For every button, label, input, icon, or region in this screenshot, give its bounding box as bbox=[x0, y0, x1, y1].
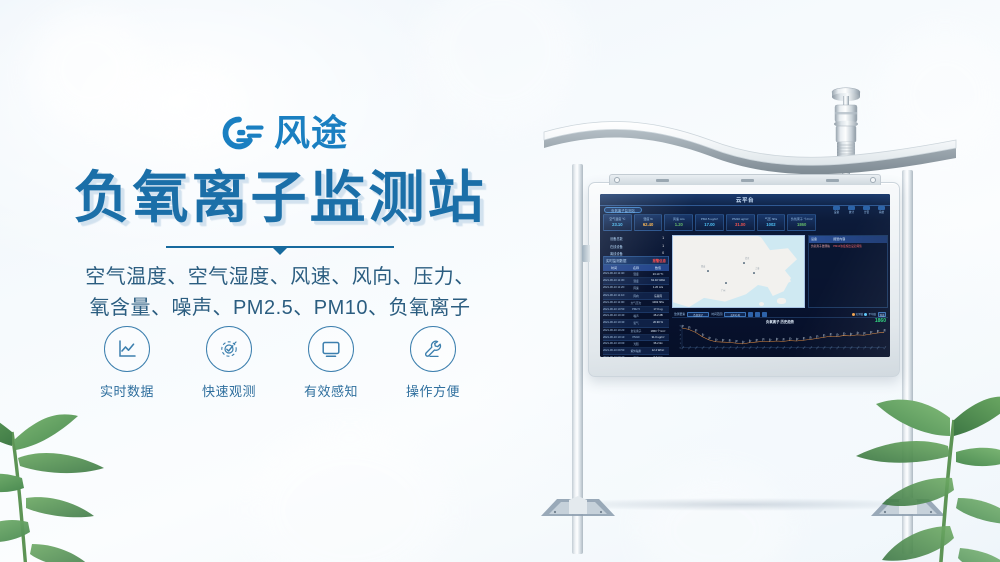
station-map[interactable]: 北京 上海 广州 西安 bbox=[672, 235, 805, 308]
cell-value: 17.0 ug bbox=[647, 308, 669, 311]
x-axis-tick: 10:00 bbox=[749, 346, 753, 350]
chart-data-point bbox=[763, 338, 765, 341]
kpi-card: PM10 ug/m³ 31.00 bbox=[726, 214, 755, 231]
feature-item-effective-sensing: 有效感知 bbox=[294, 326, 368, 400]
cell-value: 46.2 dB bbox=[647, 314, 669, 318]
table-row[interactable]: 2021-06-10 10:30:00氧气20.90 % bbox=[603, 320, 669, 327]
x-axis-tick: 01:00 bbox=[688, 346, 692, 350]
chart-legend: 实测值 平均值 bbox=[852, 312, 876, 316]
cell-time: 2021-06-10 10:00:00 bbox=[603, 342, 625, 346]
chart-series-line bbox=[682, 328, 884, 344]
legend-swatch bbox=[852, 313, 855, 316]
radar-target-icon bbox=[217, 337, 241, 361]
x-axis-tick: 00:00 bbox=[681, 346, 685, 350]
kpi-value: 1.20 bbox=[675, 222, 683, 227]
chart-data-point bbox=[736, 340, 738, 343]
alert-message: PM10浓度超出设定阈值 bbox=[833, 244, 862, 248]
cell-name: 温度 bbox=[625, 272, 647, 276]
cell-time: 2021-06-10 11:20:00 bbox=[603, 286, 625, 290]
cloud-platform-dashboard[interactable]: 云平台 负氧离子监测站 设备 统计 bbox=[600, 194, 890, 357]
cell-name: 湿度 bbox=[625, 279, 647, 283]
x-axis-tick: 25:00 bbox=[850, 346, 854, 350]
y-axis-tick: 5 bbox=[680, 330, 681, 332]
table-row[interactable]: 2021-06-10 10:20:00负氧离子1860 个/cm³ bbox=[603, 328, 669, 335]
x-axis-tick: 27:00 bbox=[863, 346, 867, 350]
cell-time: 2021-06-10 10:10:00 bbox=[603, 336, 625, 339]
feature-item-easy-operation: 操作方便 bbox=[396, 326, 470, 400]
realtime-data-table[interactable]: 实时监测数据 报警信息 时间 名称 数值 2021-06-10 11:40:00… bbox=[603, 256, 669, 355]
alert-header: 设备 报警内容 bbox=[809, 236, 887, 243]
chart-data-point bbox=[884, 329, 886, 332]
feature-label: 实时数据 bbox=[100, 381, 154, 400]
feature-item-fast-observation: 快速观测 bbox=[192, 326, 266, 400]
feature-icon-wrap bbox=[308, 326, 354, 372]
kpi-value: 1860 bbox=[797, 222, 806, 227]
feature-item-realtime-data: 实时数据 bbox=[90, 326, 164, 400]
table-row[interactable]: 2021-06-10 10:40:00噪声46.2 dB bbox=[603, 313, 669, 320]
side-connector bbox=[582, 245, 590, 262]
device-summary: 设备总数 1 在线设备 1 离线设备 0 bbox=[608, 235, 666, 258]
x-axis-tick: 04:00 bbox=[708, 346, 712, 350]
display-housing: 云平台 负氧离子监测站 设备 统计 bbox=[588, 182, 900, 377]
summary-row: 设备总数 1 bbox=[608, 235, 666, 243]
x-axis-tick: 22:00 bbox=[829, 346, 833, 350]
display-screen[interactable]: 云平台 负氧离子监测站 设备 统计 bbox=[600, 194, 890, 357]
y-axis-tick: 6 bbox=[680, 326, 681, 328]
parameter-list: 空气温度、空气湿度、风速、风向、压力、 氧含量、噪声、PM2.5、PM10、负氧… bbox=[0, 262, 560, 324]
chart-data-point bbox=[689, 326, 691, 329]
map-station-point[interactable] bbox=[725, 282, 727, 284]
chart-data-point bbox=[729, 339, 731, 342]
monitor-icon bbox=[319, 337, 343, 361]
kpi-value: 62.40 bbox=[643, 222, 653, 227]
kpi-card: 风速 m/s 1.20 bbox=[664, 214, 693, 231]
x-axis-tick: 02:00 bbox=[695, 346, 699, 350]
x-axis-tick: 24:00 bbox=[843, 346, 847, 350]
chart-data-point bbox=[783, 338, 785, 341]
base-plate-left bbox=[541, 494, 615, 518]
cell-name: 噪声 bbox=[625, 314, 647, 318]
chart-data-point bbox=[830, 333, 832, 336]
cell-value: 20.90 % bbox=[647, 321, 669, 325]
x-axis-tick: 07:00 bbox=[728, 346, 732, 350]
chart-data-point bbox=[749, 340, 751, 343]
chart-field-select[interactable]: 负氧离子 bbox=[687, 312, 709, 317]
chart-toolbar[interactable]: 监测要素 负氧离子 时间范围 近24小时 实测值 平均值 导出 bbox=[672, 311, 888, 318]
cell-value: 1002 hPa bbox=[647, 301, 669, 305]
cell-time: 2021-06-10 10:20:00 bbox=[603, 329, 625, 333]
x-axis-tick: 06:00 bbox=[722, 346, 726, 350]
chart-zoom-button[interactable] bbox=[755, 312, 760, 317]
toolbar-item[interactable]: 设备 bbox=[831, 206, 842, 215]
table-body: 2021-06-10 11:40:00温度23.10 ℃2021-06-10 1… bbox=[603, 271, 669, 357]
legend-label: 实测值 bbox=[856, 313, 864, 316]
toolbar-item[interactable]: 统计 bbox=[846, 206, 857, 215]
kpi-value: 31.00 bbox=[735, 222, 745, 227]
legend-label: 平均值 bbox=[868, 313, 876, 316]
summary-label: 设备总数 bbox=[610, 236, 623, 241]
table-row[interactable]: 2021-06-10 11:00:00大气压力1002 hPa bbox=[603, 300, 669, 307]
table-row[interactable]: 2021-06-10 10:00:00光照36.2 klx bbox=[603, 341, 669, 348]
mount-slot bbox=[826, 179, 839, 182]
chart-settings-button[interactable] bbox=[762, 312, 767, 317]
dashboard-toolbar[interactable]: 设备 统计 告警 系统 bbox=[831, 206, 887, 215]
promo-banner: 风途 负氧离子监测站 空气温度、空气湿度、风速、风向、压力、 氧含量、噪声、PM… bbox=[0, 0, 1000, 562]
x-axis-tick: 08:00 bbox=[735, 346, 739, 350]
x-axis-tick: 15:00 bbox=[782, 346, 786, 350]
cell-name: 雨量 bbox=[625, 356, 647, 357]
x-axis-tick: 17:00 bbox=[796, 346, 800, 350]
table-header: 实时监测数据 报警信息 bbox=[603, 256, 669, 265]
cell-value: 36.2 klx bbox=[647, 342, 669, 346]
mount-eyelet bbox=[870, 177, 876, 183]
chart-data-point bbox=[857, 332, 859, 335]
feature-label: 操作方便 bbox=[406, 381, 460, 400]
kpi-card: 空气温度 ℃ 23.10 bbox=[603, 214, 632, 231]
feature-list: 实时数据 快速观测 bbox=[0, 326, 560, 400]
summary-value: 1 bbox=[662, 236, 664, 241]
map-island bbox=[759, 302, 764, 306]
feature-icon-wrap bbox=[104, 326, 150, 372]
cell-name: 氧气 bbox=[625, 321, 647, 325]
alert-device: 负氧离子监测站 bbox=[811, 244, 833, 248]
chart-data-point bbox=[716, 339, 718, 342]
cell-value: 1860 个/cm³ bbox=[647, 329, 669, 333]
chart-data-point bbox=[803, 337, 805, 340]
map-station-point[interactable] bbox=[753, 272, 755, 274]
marketing-copy-panel: 风途 负氧离子监测站 空气温度、空气湿度、风速、风向、压力、 氧含量、噪声、PM… bbox=[0, 0, 560, 562]
table-row[interactable]: 2021-06-10 11:20:00风速1.20 m/s bbox=[603, 285, 669, 292]
cell-time: 2021-06-10 11:00:00 bbox=[603, 301, 625, 305]
x-axis-tick: 20:00 bbox=[816, 346, 820, 350]
chart-data-point bbox=[702, 334, 704, 337]
x-axis-tick: 13:00 bbox=[769, 346, 773, 350]
toolbar-label: 告警 bbox=[861, 210, 872, 214]
kpi-value: 17.00 bbox=[704, 222, 714, 227]
map-label: 西安 bbox=[701, 264, 705, 268]
kpi-card: PM2.5 ug/m³ 17.00 bbox=[695, 214, 724, 231]
feature-label: 快速观测 bbox=[202, 381, 256, 400]
alert-panel[interactable]: 设备 报警内容 负氧离子监测站 PM10浓度超出设定阈值 bbox=[808, 235, 888, 308]
x-axis-tick: 16:00 bbox=[789, 346, 793, 350]
cell-name: PM10 bbox=[625, 336, 647, 339]
mount-slot bbox=[656, 179, 669, 182]
alarm-badge[interactable]: 报警信息 bbox=[652, 258, 666, 263]
table-row[interactable]: 2021-06-10 11:10:00风向东南风 bbox=[603, 293, 669, 300]
brand-name: 风途 bbox=[274, 115, 348, 151]
cell-time: 2021-06-10 11:30:00 bbox=[603, 279, 625, 283]
x-axis-tick: 09:00 bbox=[742, 346, 746, 350]
cell-time: 2021-06-10 10:30:00 bbox=[603, 321, 625, 325]
cell-name: 光照 bbox=[625, 342, 647, 346]
summary-value: 1 bbox=[662, 244, 664, 249]
feature-icon-wrap bbox=[206, 326, 252, 372]
cell-value: 23.10 ℃ bbox=[647, 272, 669, 276]
monitoring-station-product: 云平台 负氧离子监测站 设备 统计 bbox=[530, 60, 960, 530]
cell-name: 风向 bbox=[625, 294, 647, 298]
chart-data-point bbox=[695, 329, 697, 332]
feature-icon-wrap bbox=[410, 326, 456, 372]
y-axis-tick: 1 bbox=[680, 343, 681, 345]
x-axis-tick: 18:00 bbox=[802, 346, 806, 350]
cell-name: PM2.5 bbox=[625, 308, 647, 311]
x-axis-tick: 19:00 bbox=[809, 346, 813, 350]
summary-label: 在线设备 bbox=[610, 244, 623, 249]
station-selector-chip[interactable]: 负氧离子监测站 bbox=[604, 207, 642, 213]
y-axis-tick: 0 bbox=[680, 347, 681, 349]
wrench-icon bbox=[421, 337, 445, 361]
base-plate-right bbox=[871, 494, 945, 518]
dashboard-header: 云平台 bbox=[600, 194, 890, 206]
kpi-card: 负氧离子 个/cm³ 1860 bbox=[787, 214, 816, 231]
chart-data-point bbox=[682, 325, 684, 328]
cell-name: 风速 bbox=[625, 286, 647, 290]
mount-eyelet bbox=[614, 177, 620, 183]
display-mount-bar bbox=[609, 174, 881, 185]
map-label: 广州 bbox=[721, 288, 725, 292]
chart-data-point bbox=[796, 338, 798, 341]
chart-data-point bbox=[756, 339, 758, 342]
page-title: 负氧离子监测站 bbox=[0, 168, 560, 228]
map-label: 北京 bbox=[745, 256, 749, 260]
chart-data-point bbox=[770, 339, 772, 342]
cell-value: 12.4 W/m² bbox=[647, 349, 669, 353]
title-divider bbox=[0, 246, 560, 255]
kpi-card: 气压 hPa 1002 bbox=[757, 214, 786, 231]
parameter-line-1: 空气温度、空气湿度、风速、风向、压力、 bbox=[85, 266, 475, 288]
x-axis-tick: 29:00 bbox=[876, 346, 880, 350]
table-row[interactable]: 2021-06-10 11:30:00湿度62.40 %RH bbox=[603, 278, 669, 285]
map-station-point[interactable] bbox=[743, 262, 745, 264]
kpi-value: 1002 bbox=[766, 222, 775, 227]
x-axis-tick: 30:00 bbox=[883, 346, 887, 350]
y-axis-tick: 4 bbox=[680, 334, 681, 336]
kpi-value: 23.10 bbox=[612, 222, 622, 227]
alert-column-header: 报警内容 bbox=[833, 237, 845, 241]
fengtu-wind-g-logo-icon bbox=[212, 112, 266, 154]
x-axis-tick: 21:00 bbox=[823, 346, 827, 350]
map-island bbox=[777, 298, 786, 304]
y-axis-tick: 2 bbox=[680, 339, 681, 341]
chart-export-button[interactable]: 导出 bbox=[878, 312, 886, 317]
trend-chart-panel[interactable]: 监测要素 负氧离子 时间范围 近24小时 实测值 平均值 导出 bbox=[672, 311, 888, 355]
x-axis-tick: 14:00 bbox=[775, 346, 779, 350]
chart-data-point bbox=[877, 330, 879, 333]
cell-value: 62.40 %RH bbox=[647, 279, 669, 283]
summary-row: 在线设备 1 bbox=[608, 243, 666, 251]
divider-triangle-icon bbox=[272, 247, 288, 255]
feature-label: 有效感知 bbox=[304, 381, 358, 400]
cell-value: 0.0 mm bbox=[647, 356, 669, 357]
chart-time-select[interactable]: 近24小时 bbox=[724, 312, 746, 317]
chart-refresh-button[interactable] bbox=[748, 312, 753, 317]
table-row[interactable]: 2021-06-10 11:40:00温度23.10 ℃ bbox=[603, 271, 669, 278]
cell-time: 2021-06-10 11:40:00 bbox=[603, 272, 625, 276]
toolbar-label: 设备 bbox=[831, 210, 842, 214]
cell-value: 1.20 m/s bbox=[647, 286, 669, 290]
chart-data-point bbox=[790, 338, 792, 341]
brand-logo: 风途 bbox=[0, 112, 560, 154]
x-axis-tick: 28:00 bbox=[870, 346, 874, 350]
cell-value: 东南风 bbox=[647, 294, 669, 298]
chart-data-point bbox=[776, 338, 778, 341]
kpi-card: 湿度 % 62.40 bbox=[634, 214, 663, 231]
x-axis-tick: 05:00 bbox=[715, 346, 719, 350]
cell-time: 2021-06-10 09:40:00 bbox=[603, 356, 625, 357]
cell-name: 紫外辐射 bbox=[625, 349, 647, 353]
x-axis-tick: 23:00 bbox=[836, 346, 840, 350]
map-label: 上海 bbox=[755, 266, 759, 270]
toolbar-label: 系统 bbox=[876, 210, 887, 214]
column-header: 数值 bbox=[647, 266, 669, 270]
cell-name: 负氧离子 bbox=[625, 329, 647, 333]
x-axis-tick: 12:00 bbox=[762, 346, 766, 350]
mount-slot bbox=[741, 179, 754, 182]
alert-row: 负氧离子监测站 PM10浓度超出设定阈值 bbox=[809, 243, 887, 249]
toolbar-item[interactable]: 告警 bbox=[861, 206, 872, 215]
chart-field-label: 监测要素 bbox=[674, 312, 685, 316]
chart-data-point bbox=[709, 337, 711, 340]
table-title: 实时监测数据 bbox=[606, 258, 626, 263]
chart-time-label: 时间范围 bbox=[711, 312, 722, 316]
parameter-line-2: 氧含量、噪声、PM2.5、PM10、负氧离子 bbox=[0, 293, 560, 324]
cell-time: 2021-06-10 10:40:00 bbox=[603, 314, 625, 318]
map-station-point[interactable] bbox=[707, 270, 709, 272]
line-chart-icon bbox=[115, 337, 139, 361]
toolbar-label: 统计 bbox=[846, 210, 857, 214]
column-header: 时间 bbox=[603, 266, 625, 270]
cell-time: 2021-06-10 11:10:00 bbox=[603, 294, 625, 298]
column-header: 名称 bbox=[625, 266, 647, 270]
cell-value: 31.0 ug/m³ bbox=[647, 336, 669, 339]
kpi-row: 空气温度 ℃ 23.10 湿度 % 62.40 风速 m/s 1.20 PM bbox=[603, 214, 816, 231]
x-axis-tick: 26:00 bbox=[856, 346, 860, 350]
table-row[interactable]: 2021-06-10 09:40:00雨量0.0 mm bbox=[603, 355, 669, 357]
cell-time: 2021-06-10 09:50:00 bbox=[603, 349, 625, 353]
toolbar-item[interactable]: 系统 bbox=[876, 206, 887, 215]
trend-line-chart: 01245600:0001:0002:0003:0004:0005:0006:0… bbox=[672, 323, 888, 355]
cell-name: 大气压力 bbox=[625, 301, 647, 305]
x-axis-tick: 11:00 bbox=[755, 346, 759, 350]
table-row[interactable]: 2021-06-10 09:50:00紫外辐射12.4 W/m² bbox=[603, 348, 669, 355]
alert-column-header: 设备 bbox=[811, 237, 833, 241]
x-axis-tick: 03:00 bbox=[701, 346, 705, 350]
dashboard-title: 云平台 bbox=[600, 196, 890, 204]
chart-data-point bbox=[722, 339, 724, 342]
cell-time: 2021-06-10 10:50:00 bbox=[603, 308, 625, 311]
chart-data-point bbox=[844, 333, 846, 336]
